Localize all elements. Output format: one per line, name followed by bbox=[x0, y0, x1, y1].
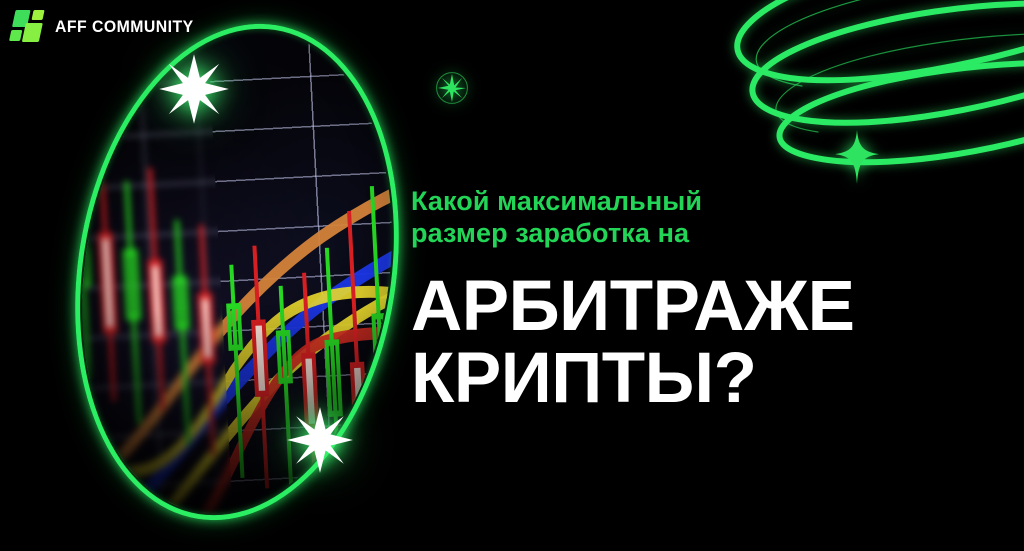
logo-shape-3 bbox=[9, 30, 22, 41]
kicker-line-1: Какой максимальный bbox=[411, 186, 1011, 218]
four-point-sparkle-icon bbox=[834, 130, 880, 184]
page-title: АРБИТРАЖЕ КРИПТЫ? bbox=[411, 273, 1011, 413]
candle-body bbox=[53, 250, 66, 298]
promo-copy: Какой максимальный размер заработка на А… bbox=[411, 186, 1011, 413]
kicker-line-2: размер заработка на bbox=[411, 218, 1011, 250]
promo-banner: AFF COMMUNITY Какой максимальный размер … bbox=[0, 0, 1024, 551]
sparkle-star-top-icon bbox=[157, 52, 231, 126]
sparkle-star-bottom-icon bbox=[285, 405, 355, 475]
headline-line-1: АРБИТРАЖЕ bbox=[411, 273, 1011, 340]
asterisk-in-circle-icon bbox=[430, 66, 474, 110]
logo-shape-2 bbox=[31, 10, 44, 20]
brand-logo[interactable]: AFF COMMUNITY bbox=[12, 10, 204, 44]
candle-wick bbox=[55, 191, 64, 357]
brand-name: AFF COMMUNITY bbox=[55, 17, 194, 37]
logo-shape-4 bbox=[22, 23, 43, 42]
chart-ellipse-frame bbox=[41, 0, 433, 544]
aff-squares-logo-icon bbox=[8, 10, 49, 44]
headline-line-2: КРИПТЫ? bbox=[411, 345, 1011, 412]
